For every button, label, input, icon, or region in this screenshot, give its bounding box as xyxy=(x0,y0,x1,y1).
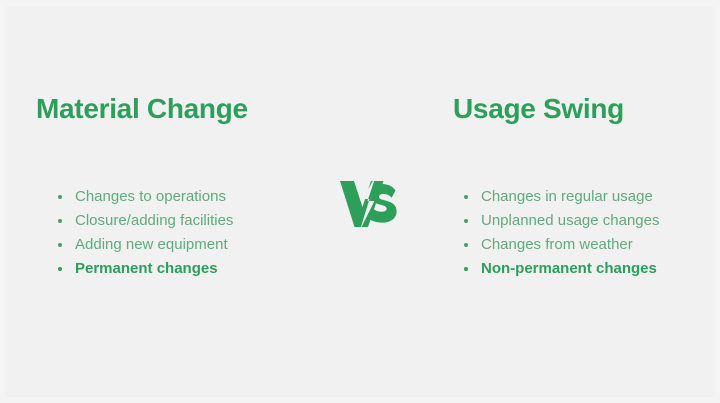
bullet-dot-icon xyxy=(58,195,62,199)
bullet-dot-icon xyxy=(58,243,62,247)
list-item-label: Closure/adding facilities xyxy=(75,212,233,229)
right-column-heading: Usage Swing xyxy=(453,92,624,126)
list-item-label: Permanent changes xyxy=(75,260,218,277)
list-item: Closure/adding facilities xyxy=(58,212,233,230)
comparison-slide: Material Change Changes to operations Cl… xyxy=(0,0,720,403)
list-item-label: Changes in regular usage xyxy=(481,188,653,205)
list-item-label: Unplanned usage changes xyxy=(481,212,659,229)
list-item-label: Non-permanent changes xyxy=(481,260,657,277)
list-item-label: Changes from weather xyxy=(481,236,633,253)
list-item: Changes from weather xyxy=(464,236,659,254)
left-column-heading: Material Change xyxy=(36,92,248,126)
list-item: Adding new equipment xyxy=(58,236,233,254)
right-column-bullet-list: Changes in regular usage Unplanned usage… xyxy=(464,188,659,278)
vs-versus-icon xyxy=(338,174,400,230)
bullet-dot-icon xyxy=(464,195,468,199)
list-item-label: Changes to operations xyxy=(75,188,226,205)
list-item: Non-permanent changes xyxy=(464,260,659,278)
bullet-dot-icon xyxy=(464,219,468,223)
list-item-label: Adding new equipment xyxy=(75,236,228,253)
left-column-bullet-list: Changes to operations Closure/adding fac… xyxy=(58,188,233,278)
bullet-dot-icon xyxy=(58,219,62,223)
list-item: Permanent changes xyxy=(58,260,233,278)
list-item: Changes to operations xyxy=(58,188,233,206)
bullet-dot-icon xyxy=(464,243,468,247)
list-item: Changes in regular usage xyxy=(464,188,659,206)
bullet-dot-icon xyxy=(464,267,468,271)
list-item: Unplanned usage changes xyxy=(464,212,659,230)
bullet-dot-icon xyxy=(58,267,62,271)
